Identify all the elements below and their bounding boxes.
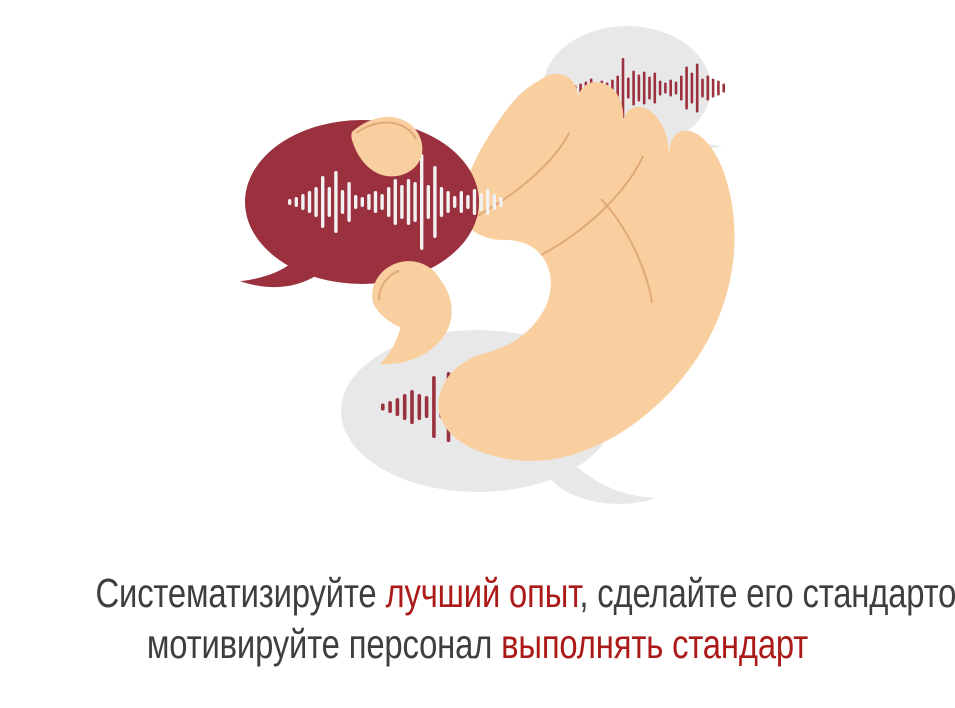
caption: Систематизируйте лучший опыт, сделайте е…: [96, 568, 860, 670]
caption-line-2: мотивируйте персонал выполнять стандарт: [96, 619, 860, 670]
caption-line-1-accent: лучший опыт: [385, 570, 579, 616]
slide-root: Систематизируйте лучший опыт, сделайте е…: [0, 0, 955, 708]
caption-line-1: Систематизируйте лучший опыт, сделайте е…: [96, 568, 860, 619]
caption-line-2-accent: выполнять стандарт: [501, 621, 808, 667]
illustration-hand-holding-speech-bubble: [0, 0, 955, 545]
hand-palm-and-fingers: [439, 74, 735, 461]
hand-pinch-grip: [439, 74, 735, 461]
caption-line-1-part-2: , сделайте его стандартом и: [579, 570, 955, 616]
caption-line-2-part-1: мотивируйте персонал: [147, 621, 501, 667]
caption-line-1-part-1: Систематизируйте: [96, 570, 386, 616]
